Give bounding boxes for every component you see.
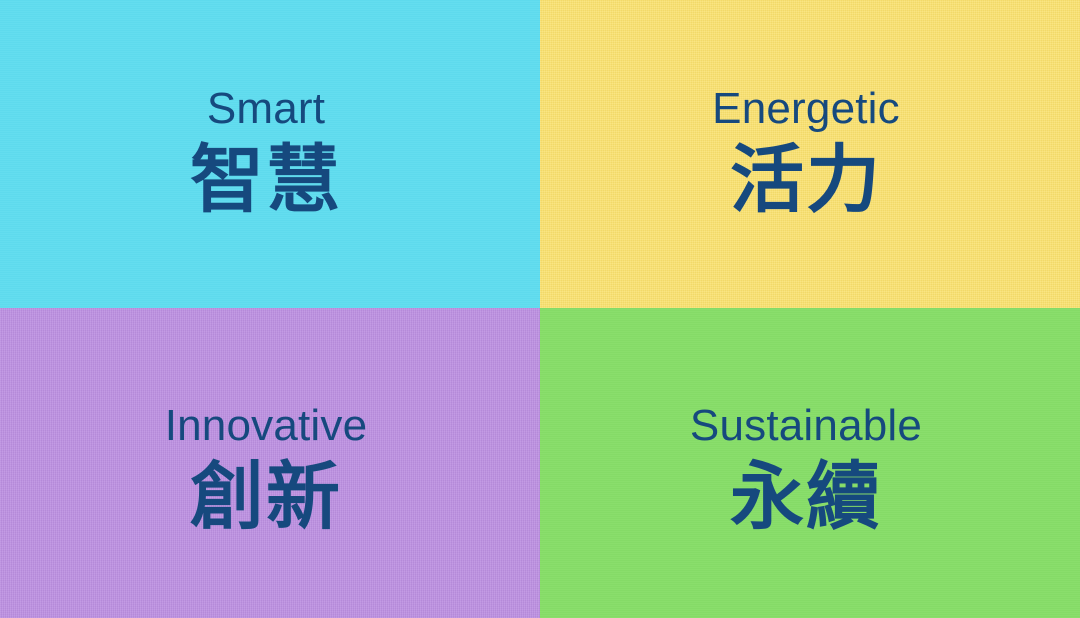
label-en-sustainable: Sustainable [690,403,922,449]
label-en-innovative: Innovative [165,403,368,449]
text-stack-innovative: Innovative 創新 [165,403,368,539]
text-stack-sustainable: Sustainable 永續 [690,403,922,539]
quadrant-energetic: Energetic 活力 [540,0,1080,308]
label-en-energetic: Energetic [712,86,900,132]
label-zh-smart: 智慧 [190,140,342,221]
text-stack-smart: Smart 智慧 [190,86,342,222]
brand-values-poster: Smart 智慧 Energetic 活力 Innovative 創新 Sust… [0,0,1080,618]
label-zh-innovative: 創新 [190,457,342,538]
quadrant-innovative: Innovative 創新 [0,308,540,618]
quadrant-smart: Smart 智慧 [0,0,540,308]
text-stack-energetic: Energetic 活力 [712,86,900,222]
quadrant-sustainable: Sustainable 永續 [540,308,1080,618]
label-zh-sustainable: 永續 [730,457,882,538]
label-en-smart: Smart [207,86,325,132]
label-zh-energetic: 活力 [730,140,882,221]
